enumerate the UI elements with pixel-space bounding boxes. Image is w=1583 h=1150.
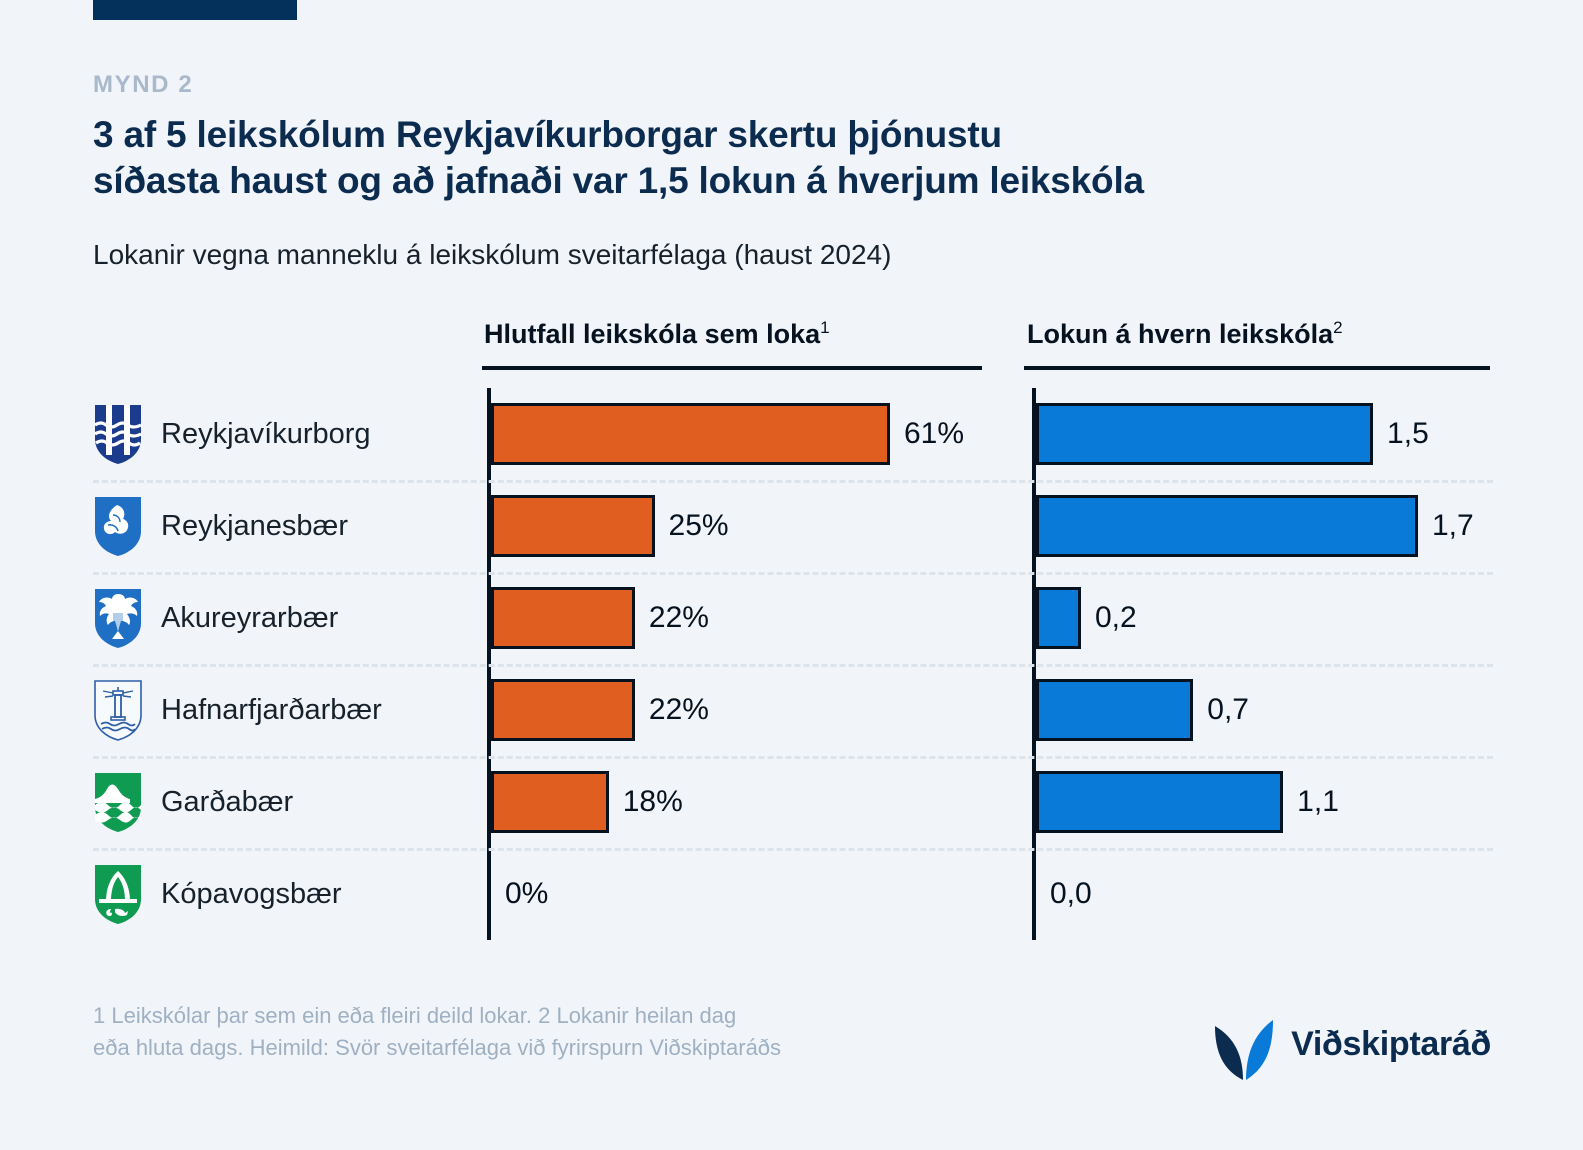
row-label: Reykjavíkurborg (93, 388, 371, 480)
crest-reykjanesbaer-icon (93, 495, 143, 557)
column-header-closures-rule (1024, 366, 1490, 370)
bar-value-share: 18% (623, 771, 683, 833)
chart-row: Akureyrarbær22%0,2 (0, 572, 1583, 664)
bar-value-closures: 0,2 (1095, 587, 1137, 649)
bar-share-of-preschools (491, 495, 655, 557)
footnote-line-1: 1 Leikskólar þar sem ein eða fleiri deil… (93, 1000, 1143, 1032)
page-title: 3 af 5 leikskólum Reykjavíkurborgar sker… (93, 112, 1493, 202)
bar-value-share: 25% (669, 495, 729, 557)
footnote: 1 Leikskólar þar sem ein eða fleiri deil… (93, 1000, 1143, 1064)
row-label: Reykjanesbær (93, 480, 348, 572)
headline-line-1: 3 af 5 leikskólum Reykjavíkurborgar sker… (93, 114, 1002, 155)
bar-value-closures: 1,7 (1432, 495, 1474, 557)
municipality-name: Garðabær (161, 788, 293, 817)
column-header-share-rule (482, 366, 982, 370)
chart-row: Reykjanesbær25%1,7 (0, 480, 1583, 572)
column-header-share-label: Hlutfall leikskóla sem loka (484, 319, 820, 349)
row-label: Hafnarfjarðarbær (93, 664, 382, 756)
figure-eyebrow: MYND 2 (93, 72, 1493, 98)
bar-closures-per-preschool (1036, 403, 1373, 465)
bar-share-of-preschools (491, 587, 635, 649)
bar-share-of-preschools (491, 403, 890, 465)
brand-name: Viðskiptaráð (1291, 1027, 1491, 1061)
chart-row: Kópavogsbær0%0,0 (0, 848, 1583, 940)
bar-closures-per-preschool (1036, 771, 1283, 833)
chart-area: Hlutfall leikskóla sem loka1 Lokun á hve… (0, 318, 1583, 958)
municipality-name: Akureyrarbær (161, 604, 338, 633)
bar-value-share: 22% (649, 679, 709, 741)
municipality-name: Kópavogsbær (161, 880, 342, 909)
vidskiptarad-leaf-icon (1213, 1008, 1275, 1080)
municipality-name: Reykjanesbær (161, 512, 348, 541)
bar-value-share: 22% (649, 587, 709, 649)
crest-akureyri-icon (93, 587, 143, 649)
row-label: Kópavogsbær (93, 848, 342, 940)
bar-closures-per-preschool (1036, 587, 1081, 649)
column-header-share-footnote-marker: 1 (820, 318, 829, 337)
plot-body: Reykjavíkurborg61%1,5 Reykjanesbær25%1,7… (0, 388, 1583, 940)
chart-row: Garðabær18%1,1 (0, 756, 1583, 848)
municipality-name: Hafnarfjarðarbær (161, 696, 382, 725)
crest-kopavogur-icon (93, 863, 143, 925)
footnote-line-2: eða hluta dags. Heimild: Svör sveitarfél… (93, 1032, 1143, 1064)
bar-share-of-preschools (491, 679, 635, 741)
bar-value-closures: 0,0 (1050, 863, 1092, 925)
bar-value-closures: 0,7 (1207, 679, 1249, 741)
bar-share-of-preschools (491, 771, 609, 833)
crest-reykjavik-icon (93, 403, 143, 465)
row-label: Akureyrarbær (93, 572, 338, 664)
bar-value-closures: 1,5 (1387, 403, 1429, 465)
crest-hafnarfjordur-icon (93, 679, 143, 741)
bar-value-share: 61% (904, 403, 964, 465)
bar-value-closures: 1,1 (1297, 771, 1339, 833)
chart-row: Hafnarfjarðarbær22%0,7 (0, 664, 1583, 756)
brand-logo: Viðskiptaráð (1213, 1008, 1491, 1080)
bar-value-share: 0% (505, 863, 548, 925)
headline-line-2: síðasta haust og að jafnaði var 1,5 loku… (93, 158, 1493, 203)
column-header-closures-footnote-marker: 2 (1333, 318, 1342, 337)
bar-closures-per-preschool (1036, 679, 1193, 741)
header: MYND 2 3 af 5 leikskólum Reykjavíkurborg… (93, 72, 1493, 272)
column-header-share: Hlutfall leikskóla sem loka1 (484, 318, 830, 350)
row-label: Garðabær (93, 756, 293, 848)
chart-subtitle: Lokanir vegna manneklu á leikskólum svei… (93, 237, 1493, 272)
chart-row: Reykjavíkurborg61%1,5 (0, 388, 1583, 480)
column-header-closures: Lokun á hvern leikskóla2 (1027, 318, 1343, 350)
bar-closures-per-preschool (1036, 495, 1418, 557)
top-accent-bar (93, 0, 297, 20)
crest-gardabaer-icon (93, 771, 143, 833)
column-header-closures-label: Lokun á hvern leikskóla (1027, 319, 1333, 349)
municipality-name: Reykjavíkurborg (161, 420, 371, 449)
